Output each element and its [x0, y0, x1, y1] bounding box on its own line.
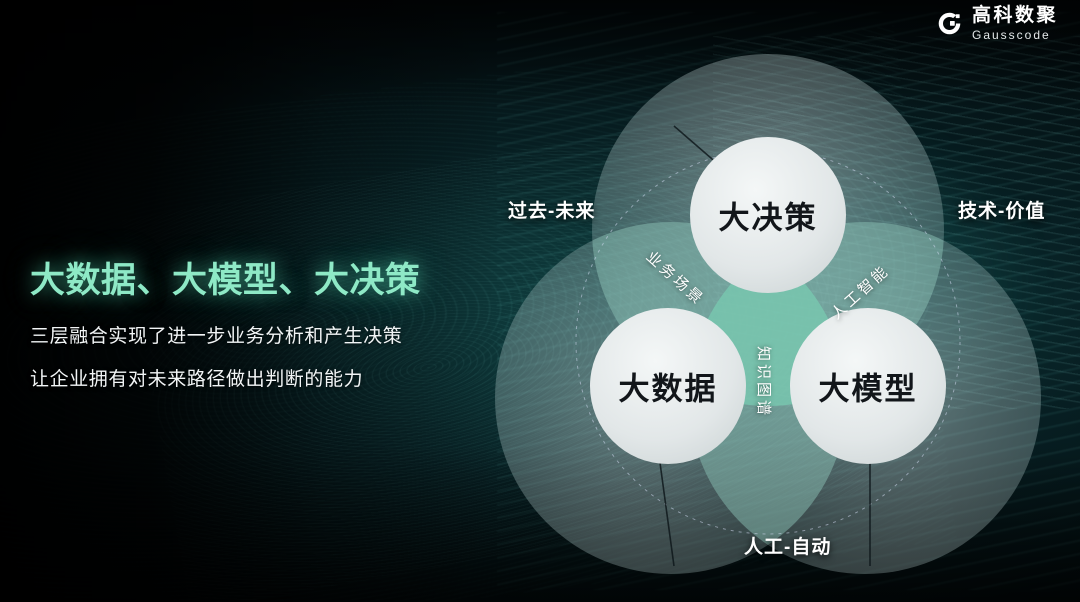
venn-label-decision: 大决策: [719, 193, 818, 238]
axis-label-manual-automatic: 人工-自动: [744, 532, 831, 559]
venn-label-bigdata: 大数据: [619, 364, 718, 409]
subtitle-line-2: 让企业拥有对未来路径做出判断的能力: [30, 364, 470, 391]
venn-intersection-knowledge-graph: 知识图谱: [754, 346, 775, 418]
axis-label-past-future: 过去-未来: [508, 196, 595, 223]
subtitle-line-1: 三层融合实现了进一步业务分析和产生决策: [30, 321, 470, 348]
page-title: 大数据、大模型、大决策: [30, 252, 470, 303]
left-text-block: 大数据、大模型、大决策 三层融合实现了进一步业务分析和产生决策 让企业拥有对未来…: [30, 252, 470, 391]
venn-label-bigmodel: 大模型: [819, 364, 918, 409]
axis-label-tech-value: 技术-价值: [958, 196, 1045, 223]
venn-diagram: 大决策 大数据 大模型 业务场景 人工智能 知识图谱: [478, 18, 1058, 578]
slide-canvas: 高科数聚 Gausscode 大数据、大模型、大决策 三层融合实现了进一步业务分…: [0, 0, 1080, 602]
